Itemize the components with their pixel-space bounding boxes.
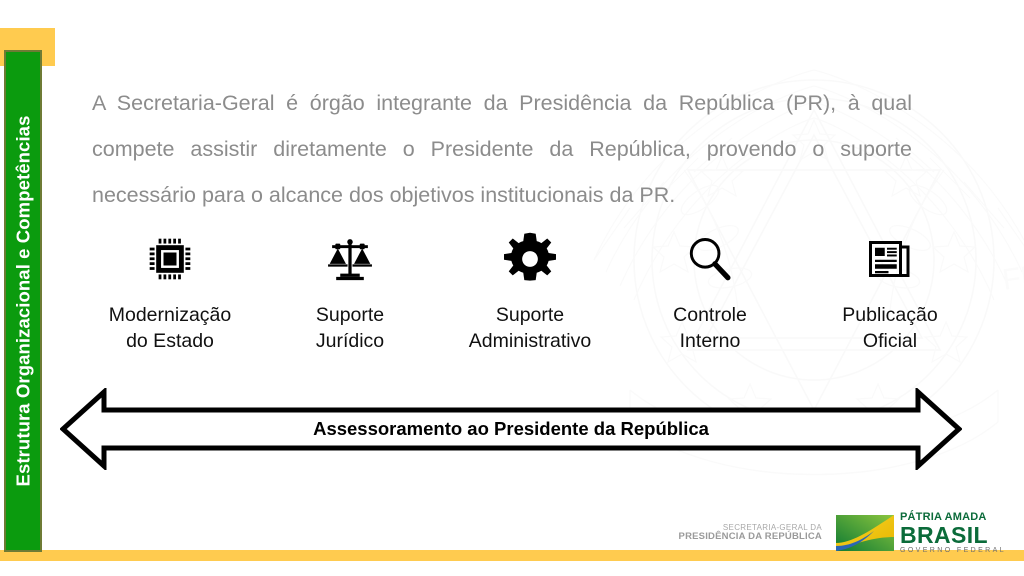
pillar-suporte-juridico: Suporte Jurídico bbox=[260, 228, 440, 368]
patria-amada-brasil-logo: PÁTRIA AMADA BRASIL GOVERNO FEDERAL bbox=[836, 512, 1006, 554]
scales-icon bbox=[324, 228, 376, 290]
magnifier-icon bbox=[684, 228, 736, 290]
intro-paragraph: A Secretaria-Geral é órgão integrante da… bbox=[92, 80, 912, 218]
pillar-label: Suporte Administrativo bbox=[469, 302, 591, 354]
pillar-controle-interno: Controle Interno bbox=[620, 228, 800, 368]
svg-text:FEDERA: FEDERA bbox=[1000, 247, 1024, 297]
brasil-line-3: GOVERNO FEDERAL bbox=[900, 547, 1006, 554]
pillar-publicacao-oficial: Publicação Oficial bbox=[800, 228, 980, 368]
newspaper-icon bbox=[866, 228, 914, 290]
secretaria-geral-logo: SECRETARIA-GERAL DA PRESIDÊNCIA DA REPÚB… bbox=[679, 523, 822, 543]
gear-icon bbox=[502, 228, 558, 290]
pillars-row: Modernização do Estado bbox=[80, 228, 980, 368]
secretaria-line-2: PRESIDÊNCIA DA REPÚBLICA bbox=[679, 532, 822, 543]
brazil-flag-mark-icon bbox=[836, 513, 894, 553]
pillar-label: Controle Interno bbox=[673, 302, 747, 354]
pillar-label: Modernização do Estado bbox=[109, 302, 231, 354]
advisory-arrow-banner: Assessoramento ao Presidente da Repúblic… bbox=[60, 388, 962, 470]
brasil-line-2: BRASIL bbox=[900, 523, 1006, 547]
advisory-arrow-label: Assessoramento ao Presidente da Repúblic… bbox=[60, 388, 962, 470]
slide-canvas: 15 de novembro FEDERA Estrutura Organiza… bbox=[0, 0, 1024, 576]
section-tab-label: Estrutura Organizacional e Competências bbox=[12, 116, 34, 487]
microchip-icon bbox=[144, 228, 196, 290]
footer-logos: SECRETARIA-GERAL DA PRESIDÊNCIA DA REPÚB… bbox=[679, 510, 1006, 556]
pillar-label: Publicação Oficial bbox=[842, 302, 937, 354]
pillar-label: Suporte Jurídico bbox=[316, 302, 384, 354]
section-tab-vertical: Estrutura Organizacional e Competências bbox=[4, 50, 42, 552]
pillar-suporte-administrativo: Suporte Administrativo bbox=[440, 228, 620, 368]
pillar-modernizacao-do-estado: Modernização do Estado bbox=[80, 228, 260, 368]
